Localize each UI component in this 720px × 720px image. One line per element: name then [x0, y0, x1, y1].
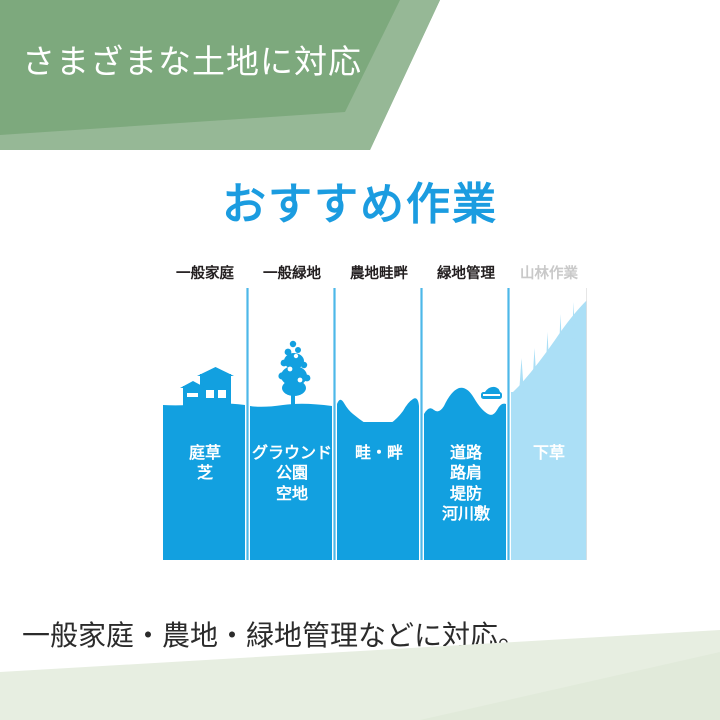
- column-3-graphic: [337, 398, 419, 560]
- column-label-5: 下草: [511, 444, 587, 464]
- house-icon: [180, 367, 234, 406]
- column-label-4-line-3: 堤防: [424, 485, 508, 505]
- column-label-4-line-4: 河川敷: [424, 505, 508, 525]
- column-1-body: [163, 410, 245, 560]
- header-title: さまざまな土地に対応: [22, 35, 362, 83]
- column-label-2: グラウンド 公園 空地: [250, 444, 334, 505]
- ridge-icon: [337, 398, 419, 424]
- page-title: おすすめ作業: [0, 168, 720, 232]
- column-header-5: 山林作業: [511, 262, 587, 283]
- column-header-3: 農地畦畔: [337, 262, 421, 283]
- column-header-4: 緑地管理: [424, 262, 508, 283]
- column-5-graphic: [511, 300, 587, 560]
- column-label-4: 道路 路肩 堤防 河川敷: [424, 444, 508, 526]
- column-header-2: 一般緑地: [250, 262, 334, 283]
- tree-icon: [278, 341, 310, 410]
- column-label-4-line-2: 路肩: [424, 464, 508, 484]
- column-label-2-line-3: 空地: [250, 485, 334, 505]
- column-label-1: 庭草 芝: [163, 444, 247, 485]
- column-label-2-line-2: 公園: [250, 464, 334, 484]
- column-label-1-line-2: 芝: [163, 464, 247, 484]
- column-label-5-line-1: 下草: [511, 444, 587, 464]
- column-label-4-line-1: 道路: [424, 444, 508, 464]
- column-header-1: 一般家庭: [163, 262, 247, 283]
- column-label-3: 畦・畔: [337, 444, 421, 464]
- column-label-2-line-1: グラウンド: [250, 444, 334, 464]
- chart-graphics: [163, 262, 587, 560]
- car-icon: [481, 387, 502, 399]
- bottom-decoration: [0, 630, 720, 720]
- column-3-body: [337, 422, 419, 560]
- column-label-3-line-1: 畦・畔: [337, 444, 421, 464]
- column-label-1-line-1: 庭草: [163, 444, 247, 464]
- recommended-work-chart: 一般家庭 一般緑地 農地畦畔 緑地管理 山林作業 庭草 芝 グラウンド 公園 空…: [163, 262, 587, 560]
- header-banner: さまざまな土地に対応: [0, 0, 720, 150]
